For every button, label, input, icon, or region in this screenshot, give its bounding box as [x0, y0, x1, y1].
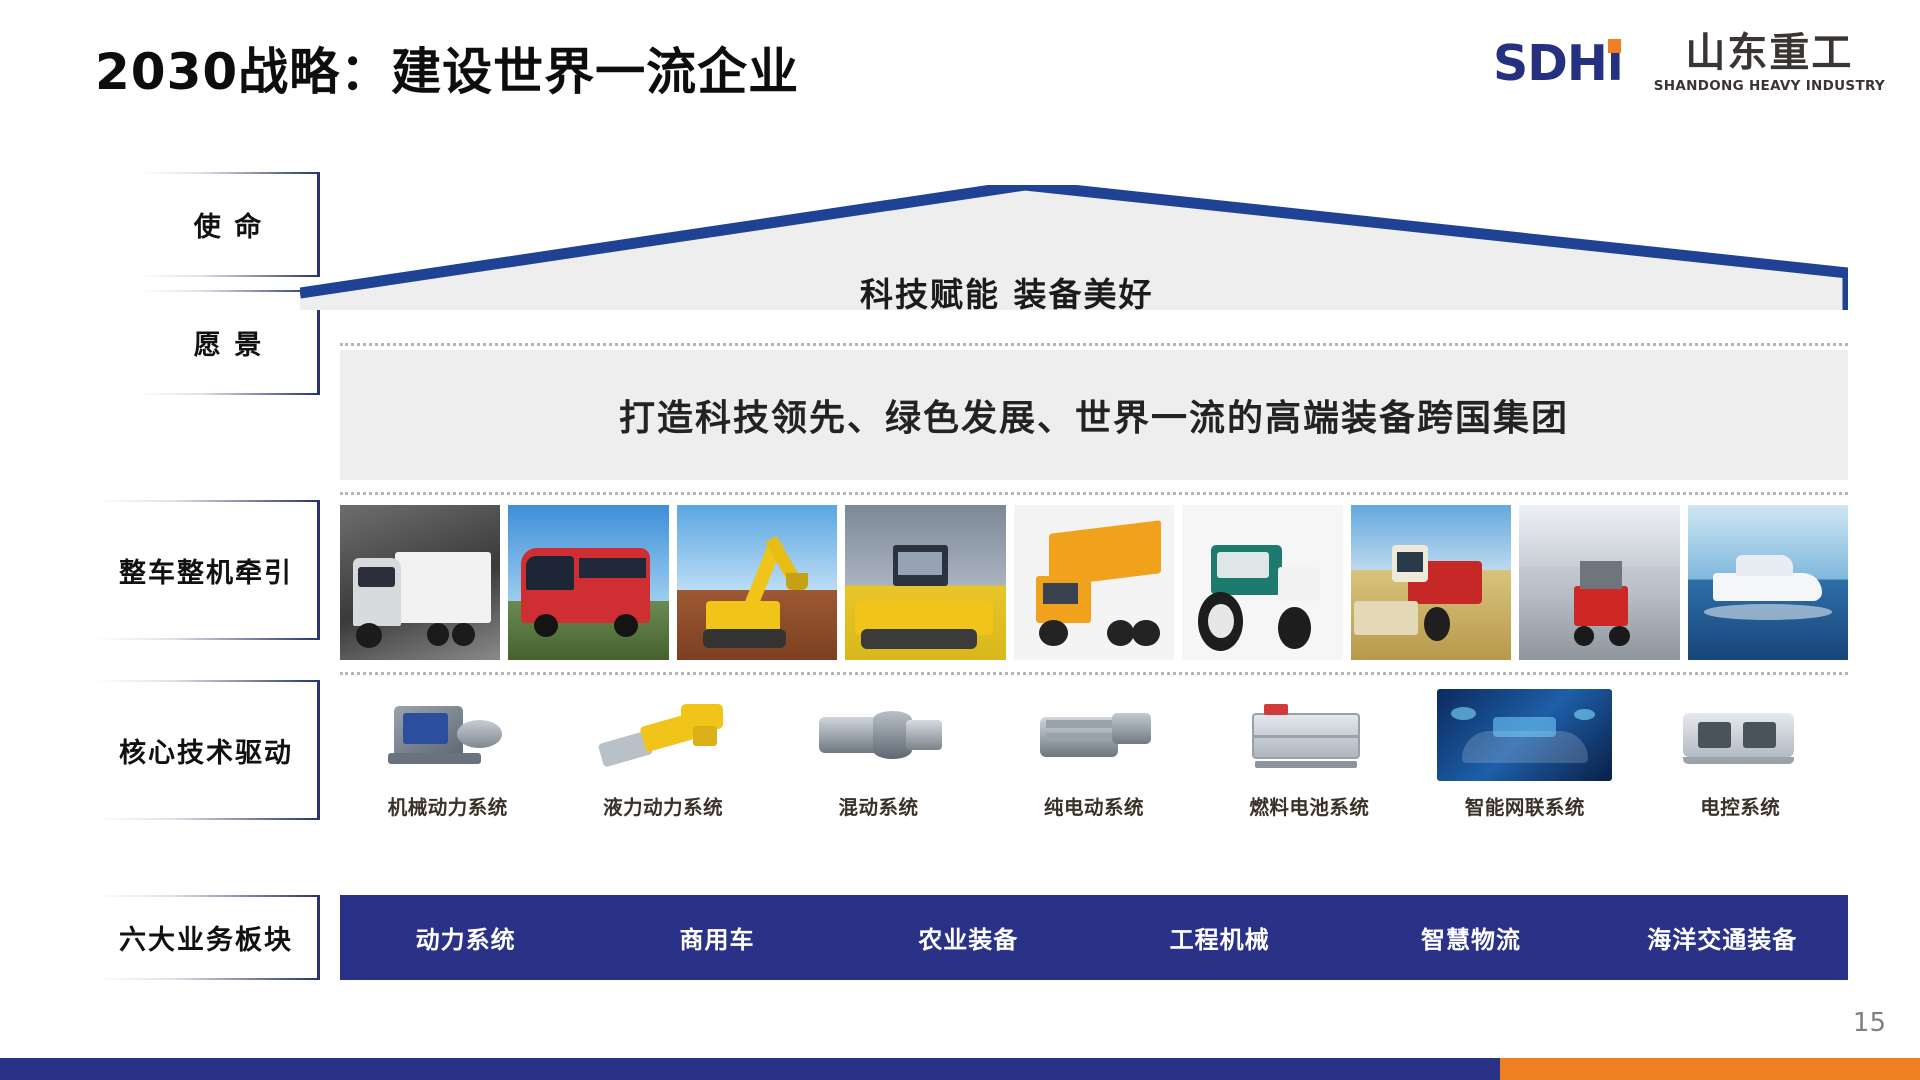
logo-sdhi-mark: SDHi — [1493, 39, 1623, 88]
row-label-vision: 愿 景 — [140, 290, 320, 395]
row-label-mission: 使 命 — [140, 172, 320, 277]
company-logo: SDHi 山东重工 SHANDONG HEAVY INDUSTRY — [1493, 33, 1885, 94]
tech-item-intelligent-connected-system: 智能网联系统 — [1417, 685, 1632, 820]
business-segment-commercial-vehicle: 商用车 — [591, 920, 842, 955]
row-label-mission-text: 使 命 — [194, 205, 263, 244]
tech-label-hydraulic-power-system: 液力动力系统 — [603, 791, 723, 820]
business-segment-construction-machinery: 工程机械 — [1094, 920, 1345, 955]
tech-item-pure-electric-system: 纯电动系统 — [986, 685, 1201, 820]
divider-vehicles-tech — [340, 672, 1848, 675]
slide-root: 2030战略：建设世界一流企业 SDHi 山东重工 SHANDONG HEAVY… — [0, 0, 1920, 1080]
logo-english-name: SHANDONG HEAVY INDUSTRY — [1654, 78, 1885, 94]
footer-bar — [0, 1058, 1920, 1080]
logo-chinese-block: 山东重工 SHANDONG HEAVY INDUSTRY — [1654, 33, 1885, 94]
business-segment-marine-transport-equipment: 海洋交通装备 — [1597, 920, 1848, 955]
divider-mission-vision — [340, 343, 1848, 346]
mechanical-power-system-icon — [373, 689, 523, 781]
logo-divider — [1637, 41, 1640, 87]
tech-item-mechanical-power-system: 机械动力系统 — [340, 685, 555, 820]
row-label-business-text: 六大业务板块 — [119, 918, 293, 957]
mission-statement: 科技赋能 装备美好 — [860, 268, 1154, 316]
tech-item-hybrid-system: 混动系统 — [771, 685, 986, 820]
divider-vision-vehicles — [340, 492, 1848, 495]
vehicle-image-harvester — [1351, 505, 1511, 660]
tech-item-fuel-cell-system: 燃料电池系统 — [1202, 685, 1417, 820]
electronic-control-system-icon — [1665, 689, 1815, 781]
tech-label-intelligent-connected-system: 智能网联系统 — [1465, 791, 1585, 820]
fuel-cell-system-icon — [1234, 689, 1384, 781]
vehicle-image-tractor — [1182, 505, 1342, 660]
tech-label-hybrid-system: 混动系统 — [839, 791, 919, 820]
vehicle-image-mining-dump-truck — [1014, 505, 1174, 660]
row-label-tech-text: 核心技术驱动 — [119, 731, 293, 770]
tech-label-mechanical-power-system: 机械动力系统 — [388, 791, 508, 820]
tech-label-pure-electric-system: 纯电动系统 — [1044, 791, 1144, 820]
row-label-vehicles: 整车整机牵引 — [95, 500, 320, 640]
tech-systems-row: 机械动力系统 液力动力系统 混动系统 — [340, 685, 1848, 820]
business-segment-agricultural-equipment: 农业装备 — [843, 920, 1094, 955]
business-segment-smart-logistics: 智慧物流 — [1345, 920, 1596, 955]
logo-chinese-name: 山东重工 — [1685, 33, 1853, 73]
tech-item-electronic-control-system: 电控系统 — [1633, 685, 1848, 820]
vehicle-image-excavator — [677, 505, 837, 660]
hybrid-system-icon — [804, 689, 954, 781]
footer-bar-navy — [0, 1058, 1500, 1080]
hydraulic-power-system-icon — [588, 689, 738, 781]
row-label-tech: 核心技术驱动 — [95, 680, 320, 820]
vision-statement: 打造科技领先、绿色发展、世界一流的高端装备跨国集团 — [619, 389, 1569, 441]
vehicle-image-bulldozer — [845, 505, 1005, 660]
page-number: 15 — [1853, 1008, 1886, 1038]
business-segments-bar: 动力系统 商用车 农业装备 工程机械 智慧物流 海洋交通装备 — [340, 895, 1848, 980]
tech-item-hydraulic-power-system: 液力动力系统 — [555, 685, 770, 820]
pure-electric-system-icon — [1019, 689, 1169, 781]
intelligent-connected-system-icon — [1437, 689, 1612, 781]
tech-label-fuel-cell-system: 燃料电池系统 — [1249, 791, 1369, 820]
row-label-business: 六大业务板块 — [95, 895, 320, 980]
tech-label-electronic-control-system: 电控系统 — [1700, 791, 1780, 820]
logo-sdhi-text: SDHi — [1493, 35, 1623, 92]
vision-band: 打造科技领先、绿色发展、世界一流的高端装备跨国集团 — [340, 350, 1848, 480]
vehicle-image-yacht — [1688, 505, 1848, 660]
vehicle-image-coach-bus — [508, 505, 668, 660]
page-title: 2030战略：建设世界一流企业 — [95, 32, 799, 104]
row-label-vision-text: 愿 景 — [194, 323, 263, 362]
logo-orange-dot-icon — [1608, 39, 1621, 53]
vehicle-image-strip — [340, 505, 1848, 660]
vehicle-image-forklift — [1519, 505, 1679, 660]
footer-bar-orange — [1500, 1058, 1920, 1080]
vehicle-image-heavy-truck — [340, 505, 500, 660]
row-label-vehicles-text: 整车整机牵引 — [119, 551, 293, 590]
business-segment-powertrain: 动力系统 — [340, 920, 591, 955]
